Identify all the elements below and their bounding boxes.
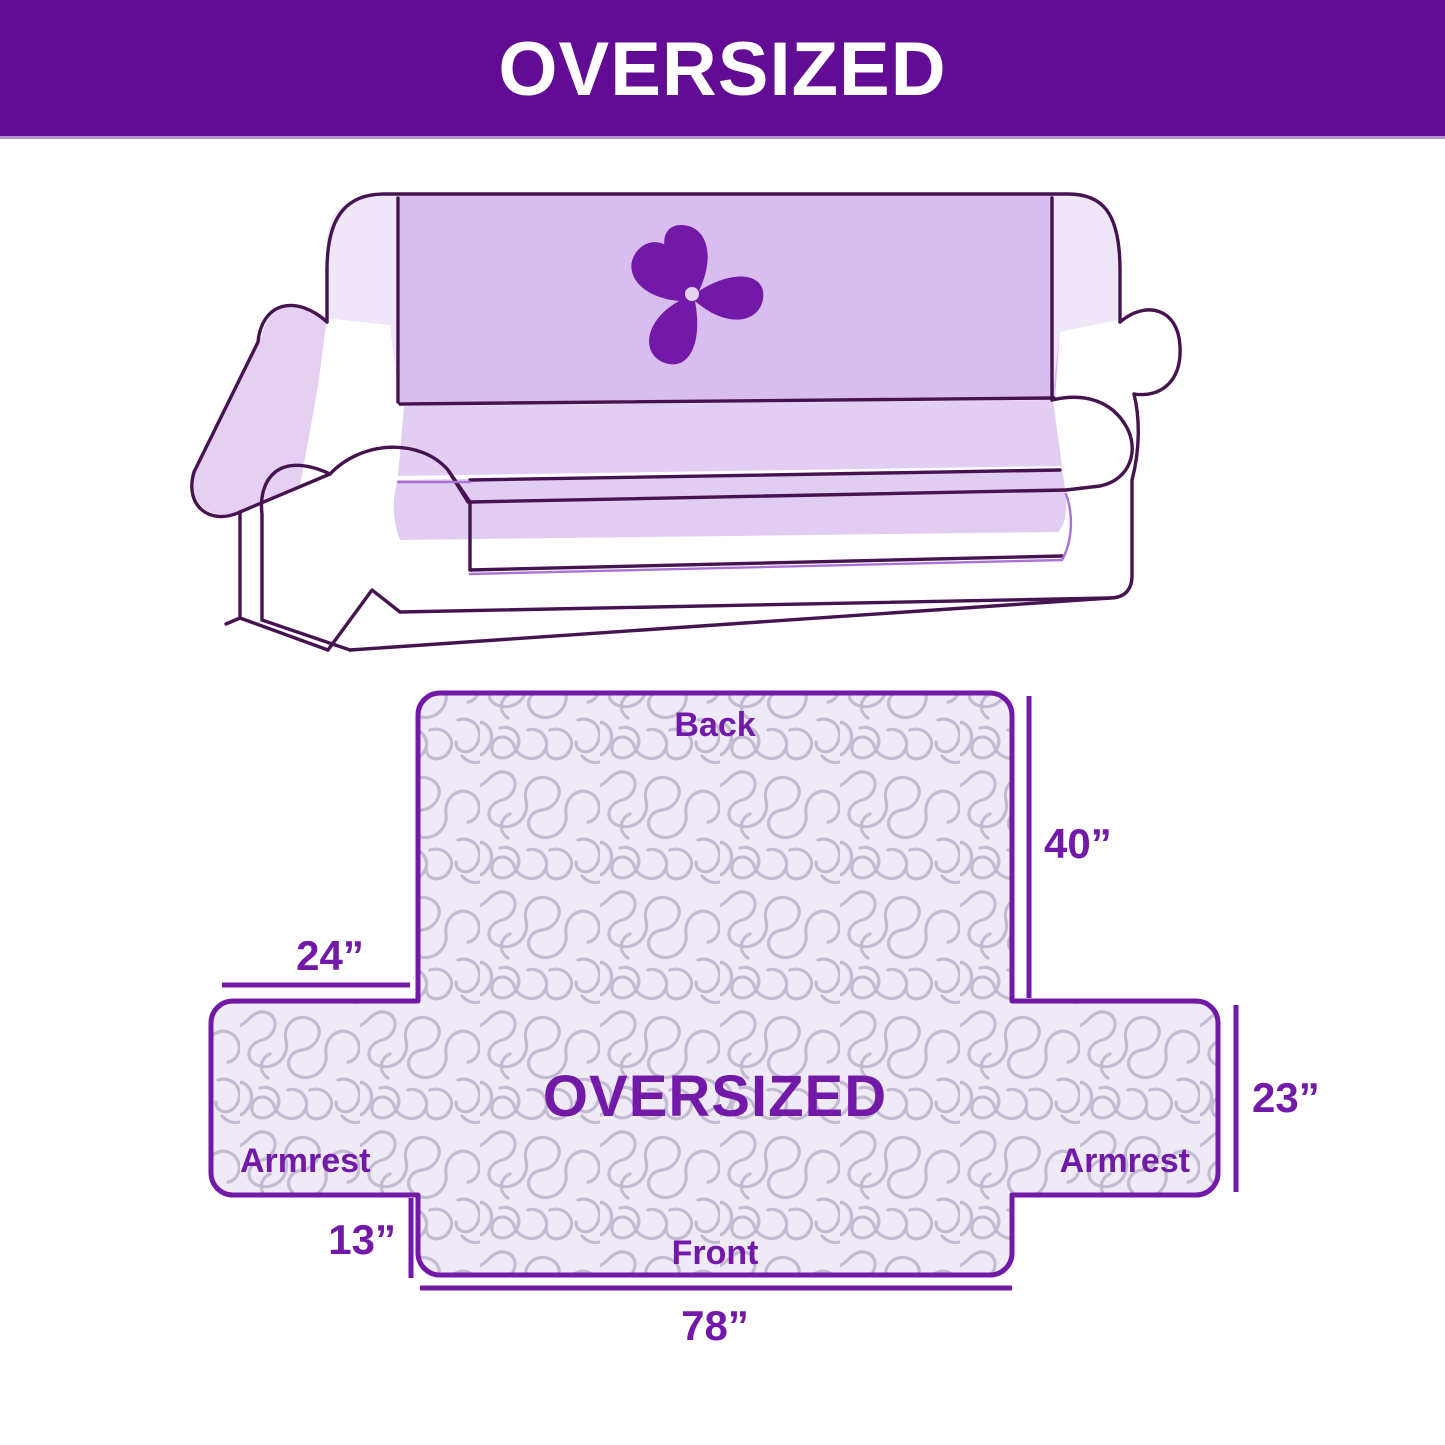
panel-label-front: Front xyxy=(672,1234,759,1272)
dimension-value-front-width: 78” xyxy=(681,1302,749,1349)
header-banner: OVERSIZED xyxy=(0,0,1445,136)
banner-title: OVERSIZED xyxy=(498,32,946,108)
pinwheel-center xyxy=(685,287,699,301)
sofa-back-right-roll xyxy=(1052,194,1118,400)
panel-label-armrest-right: Armrest xyxy=(1060,1142,1190,1180)
sofa-base-bottom xyxy=(328,590,400,650)
sofa-seat-cushion xyxy=(398,400,1062,476)
dimension-value-armrest-height: 23” xyxy=(1252,1074,1320,1121)
sofa-left-arm-front-inner xyxy=(262,620,350,650)
dimension-value-armrest-drop: 13” xyxy=(328,1216,396,1263)
sofa-right-arm-roll xyxy=(1120,310,1180,395)
flat-pattern-diagram: Back Armrest Armrest Front OVERSIZED 40”… xyxy=(0,650,1445,1350)
dimension-value-back-height: 40” xyxy=(1044,820,1112,867)
pattern-svg: Back Armrest Armrest Front OVERSIZED 40”… xyxy=(0,650,1445,1350)
dimension-value-armrest-top: 24” xyxy=(296,932,364,979)
sofa-skirt-left xyxy=(226,618,240,624)
sofa-svg xyxy=(0,150,1445,650)
page-root: OVERSIZED xyxy=(0,0,1445,1445)
panel-label-back: Back xyxy=(674,706,755,744)
sofa-right-arm-inner2 xyxy=(1066,486,1100,490)
sofa-right-arm-inner xyxy=(1052,397,1132,486)
banner-underline xyxy=(0,136,1445,139)
sofa-back-left-roll xyxy=(327,194,400,405)
sofa-illustration xyxy=(0,150,1445,650)
sofa-left-arm-front xyxy=(240,512,328,650)
center-label-oversized: OVERSIZED xyxy=(543,1064,887,1129)
panel-label-armrest-left: Armrest xyxy=(240,1142,370,1180)
